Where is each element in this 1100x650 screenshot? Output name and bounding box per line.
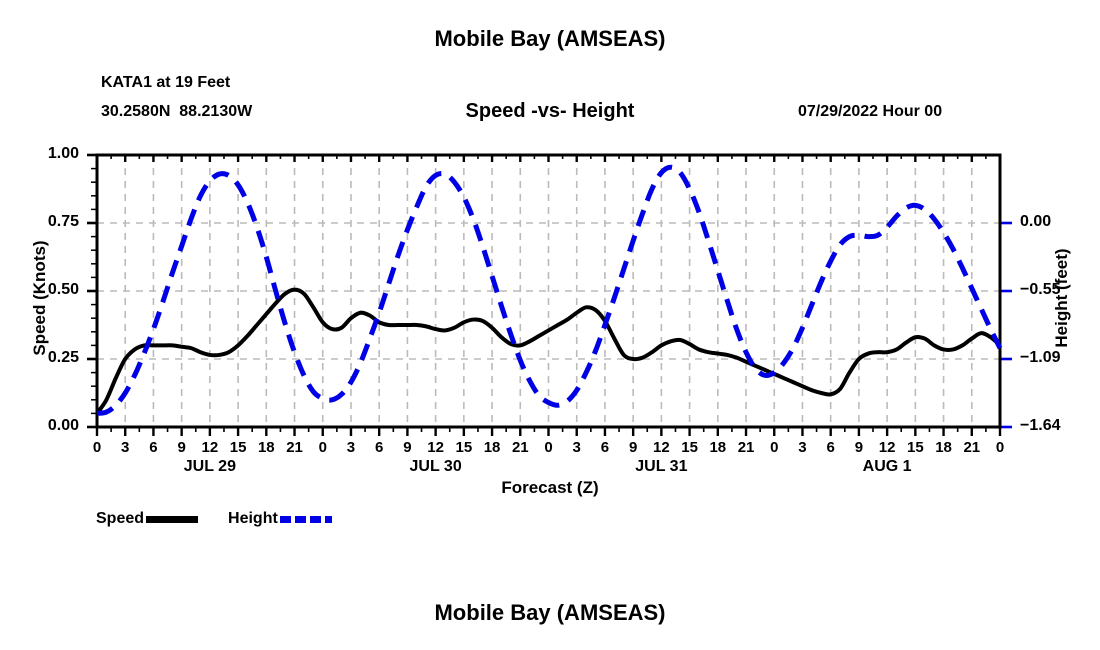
y-axis-tick-left: 0.50 bbox=[13, 281, 79, 299]
x-axis-tick: 0 bbox=[987, 439, 1013, 456]
x-axis-tick: 15 bbox=[902, 439, 928, 456]
legend-item-height: Height bbox=[228, 510, 332, 528]
x-axis-tick: 21 bbox=[733, 439, 759, 456]
x-axis-tick: 21 bbox=[507, 439, 533, 456]
x-axis-tick: 18 bbox=[931, 439, 957, 456]
x-axis-tick: 18 bbox=[253, 439, 279, 456]
plot-area bbox=[0, 0, 1100, 650]
x-axis-tick: 6 bbox=[140, 439, 166, 456]
x-axis-tick: 6 bbox=[592, 439, 618, 456]
y-axis-tick-left: 0.25 bbox=[13, 349, 79, 367]
x-axis-tick: 21 bbox=[959, 439, 985, 456]
x-axis-tick: 15 bbox=[677, 439, 703, 456]
y-axis-tick-left: 1.00 bbox=[13, 145, 79, 163]
x-axis-tick: 12 bbox=[874, 439, 900, 456]
legend-swatch-height-icon bbox=[280, 516, 332, 523]
legend-label-speed: Speed bbox=[96, 510, 144, 528]
x-axis-tick: 3 bbox=[789, 439, 815, 456]
x-axis-day-label: JUL 29 bbox=[140, 458, 280, 476]
legend-label-height: Height bbox=[228, 510, 278, 528]
x-axis-tick: 6 bbox=[366, 439, 392, 456]
x-axis-tick: 0 bbox=[536, 439, 562, 456]
y-axis-tick-right: −1.64 bbox=[1020, 417, 1086, 435]
x-axis-tick: 21 bbox=[282, 439, 308, 456]
x-axis-tick: 18 bbox=[479, 439, 505, 456]
x-axis-tick: 3 bbox=[112, 439, 138, 456]
chart-legend: Speed Height bbox=[96, 508, 332, 530]
x-axis-tick: 12 bbox=[423, 439, 449, 456]
x-axis-tick: 0 bbox=[310, 439, 336, 456]
y-axis-tick-right: 0.00 bbox=[1020, 213, 1086, 231]
y-axis-tick-right: −1.09 bbox=[1020, 349, 1086, 367]
x-axis-tick: 9 bbox=[846, 439, 872, 456]
x-axis-tick: 6 bbox=[818, 439, 844, 456]
legend-item-speed: Speed bbox=[96, 510, 228, 528]
x-axis-tick: 9 bbox=[620, 439, 646, 456]
x-axis-tick: 0 bbox=[761, 439, 787, 456]
x-axis-tick: 3 bbox=[564, 439, 590, 456]
x-axis-tick: 9 bbox=[394, 439, 420, 456]
x-axis-label: Forecast (Z) bbox=[0, 478, 1100, 498]
x-axis-tick: 12 bbox=[648, 439, 674, 456]
y-axis-tick-left: 0.00 bbox=[13, 417, 79, 435]
x-axis-tick: 0 bbox=[84, 439, 110, 456]
y-axis-tick-right: −0.55 bbox=[1020, 281, 1086, 299]
x-axis-tick: 3 bbox=[338, 439, 364, 456]
gridlines bbox=[97, 155, 1000, 427]
footer-title: Mobile Bay (AMSEAS) bbox=[0, 600, 1100, 626]
x-axis-tick: 15 bbox=[225, 439, 251, 456]
x-axis-day-label: JUL 31 bbox=[591, 458, 731, 476]
chart-canvas: Mobile Bay (AMSEAS) KATA1 at 19 Feet 30.… bbox=[0, 0, 1100, 650]
x-axis-tick: 9 bbox=[169, 439, 195, 456]
x-axis-day-label: JUL 30 bbox=[366, 458, 506, 476]
legend-swatch-speed-icon bbox=[146, 516, 198, 523]
x-axis-tick: 18 bbox=[705, 439, 731, 456]
y-axis-tick-left: 0.75 bbox=[13, 213, 79, 231]
x-axis-tick: 12 bbox=[197, 439, 223, 456]
x-axis-day-label: AUG 1 bbox=[817, 458, 957, 476]
x-axis-tick: 15 bbox=[451, 439, 477, 456]
axis-ticks bbox=[87, 155, 1012, 436]
